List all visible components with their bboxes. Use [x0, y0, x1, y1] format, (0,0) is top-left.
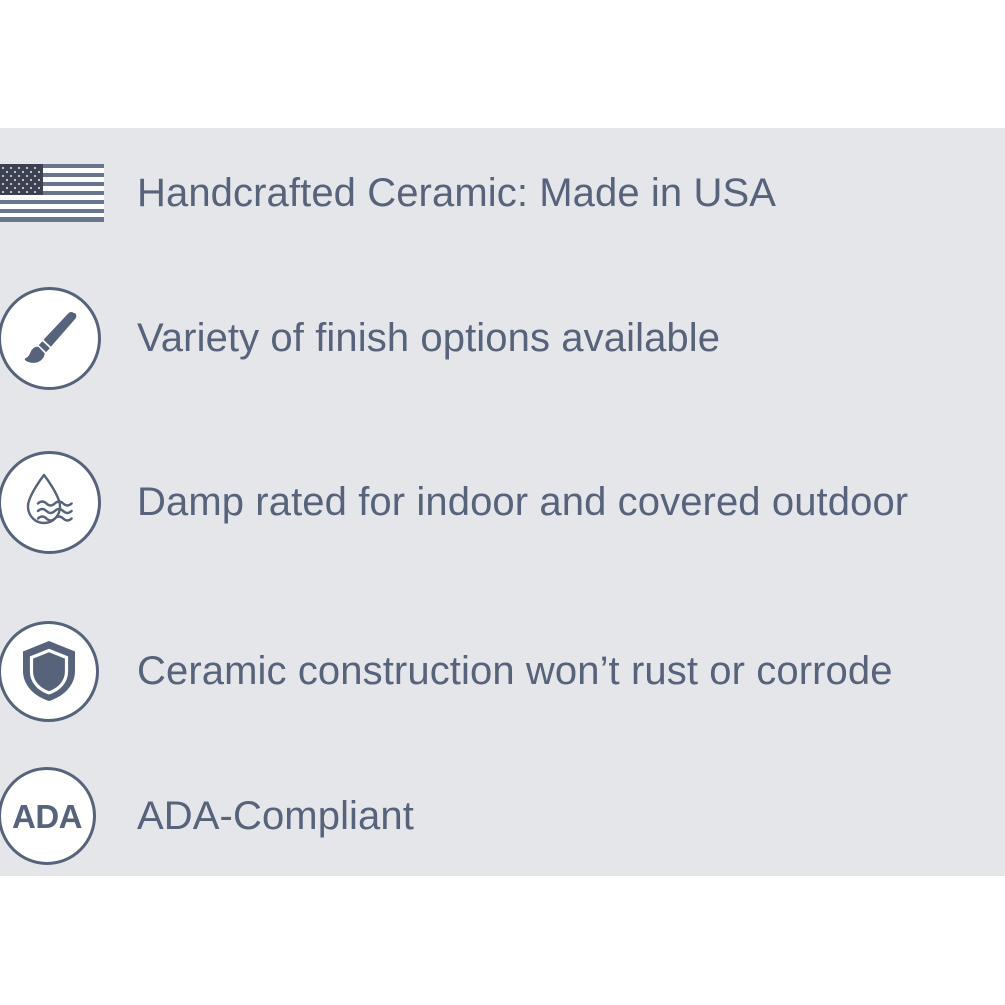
feature-row: Ceramic construction won’t rust or corro…	[0, 586, 1005, 756]
icon-slot	[0, 283, 137, 393]
feature-label: Damp rated for indoor and covered outdoo…	[137, 480, 908, 524]
icon-slot	[0, 616, 137, 726]
paintbrush-icon	[0, 287, 101, 390]
product-feature-graphic: Handcrafted Ceramic: Made in USA Variety…	[0, 0, 1005, 1005]
feature-label: ADA-Compliant	[137, 794, 414, 838]
flag-canton	[0, 164, 43, 195]
shield-icon	[0, 621, 99, 722]
feature-row: Variety of finish options available	[0, 258, 1005, 418]
feature-row: Damp rated for indoor and covered outdoo…	[0, 418, 1005, 586]
ada-badge-label: ADA	[12, 800, 82, 833]
feature-label: Ceramic construction won’t rust or corro…	[137, 649, 893, 693]
ada-badge-icon: ADA	[0, 767, 96, 865]
feature-row: ADA ADA-Compliant	[0, 756, 1005, 876]
icon-slot	[0, 138, 137, 248]
water-drop-damp-rated-icon	[0, 451, 101, 554]
feature-label: Handcrafted Ceramic: Made in USA	[137, 171, 776, 215]
icon-slot: ADA	[0, 761, 137, 871]
feature-row: Handcrafted Ceramic: Made in USA	[0, 128, 1005, 258]
icon-slot	[0, 447, 137, 557]
feature-list-panel: Handcrafted Ceramic: Made in USA Variety…	[0, 128, 1005, 876]
feature-label: Variety of finish options available	[137, 316, 720, 360]
us-flag-icon	[0, 164, 104, 222]
